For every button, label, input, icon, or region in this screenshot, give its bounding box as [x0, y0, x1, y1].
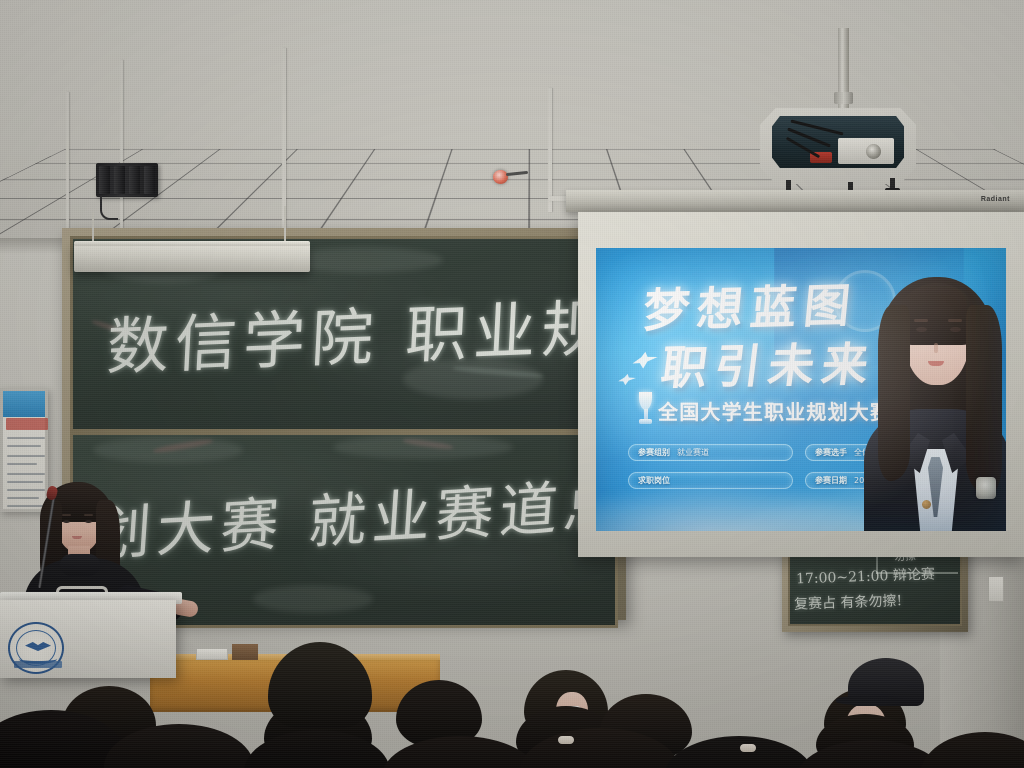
slide-student-portrait: [862, 261, 1006, 531]
wall-speaker-box: [96, 163, 158, 197]
audience-head-tall: [268, 642, 372, 728]
pill-value-0: 就业赛道: [677, 447, 709, 458]
audience: [0, 640, 1024, 768]
pill-key-3: 参赛日期: [815, 475, 847, 486]
projector-mount-collar: [834, 92, 853, 104]
projected-slide: 梦想蓝图 职引未来 全国大学生职业规划大赛 参赛组别 就业赛道 参赛选手 全体 …: [596, 248, 1006, 531]
projection-screen-housing: Radiant: [566, 190, 1024, 212]
main-blackboard: 数信学院 职业规 划大赛 就业赛道总决赛: [62, 228, 626, 620]
dove-icon-1: [631, 349, 660, 370]
projector-lens: [866, 144, 881, 159]
slide-student-badge: [976, 477, 996, 499]
wall-conduit-2: [120, 60, 123, 242]
wall-conduit-4: [548, 88, 552, 212]
pill-key-2: 求职岗位: [638, 475, 670, 486]
slide-pill-group: 参赛组别 就业赛道: [628, 444, 793, 461]
pill-key-0: 参赛组别: [638, 447, 670, 458]
slide-pill-position: 求职岗位: [628, 472, 793, 489]
speaker-box-cable: [100, 196, 118, 220]
hair-tie: [558, 736, 574, 744]
pill-key-1: 参赛选手: [815, 447, 847, 458]
slide-subtitle: 全国大学生职业规划大赛: [658, 396, 891, 425]
side-blackboard-line-1: 17:00~21:00 辩论赛: [796, 564, 935, 589]
trophy-icon: [638, 392, 653, 426]
lamp-hanger-right: [284, 206, 286, 246]
wall-conduit-1: [66, 92, 69, 242]
screen-brand-label: Radiant: [981, 196, 1010, 203]
blackboard-line-2: 划大赛 就业赛道总决赛: [91, 450, 618, 571]
notice-header-bar: [3, 391, 45, 417]
audience-head-front: [920, 732, 1024, 768]
slide-calligraphy-line-2: 职引未来: [658, 328, 880, 398]
side-blackboard-line-2: 复赛占 有条勿擦!: [794, 590, 903, 614]
fire-alarm-icon: [493, 170, 508, 184]
notice-title-block: [6, 418, 48, 430]
fluorescent-light-fixture: [74, 244, 310, 272]
light-switch-plate[interactable]: [988, 576, 1004, 602]
audience-head-front: [382, 736, 538, 768]
cap-brim: [836, 696, 902, 705]
hair-tie: [740, 744, 756, 752]
classroom-photo: 数信学院 职业规 划大赛 就业赛道总决赛 勿擦 17:00~21:00 辩论赛 …: [0, 0, 1024, 768]
dove-icon-2: [617, 373, 636, 386]
